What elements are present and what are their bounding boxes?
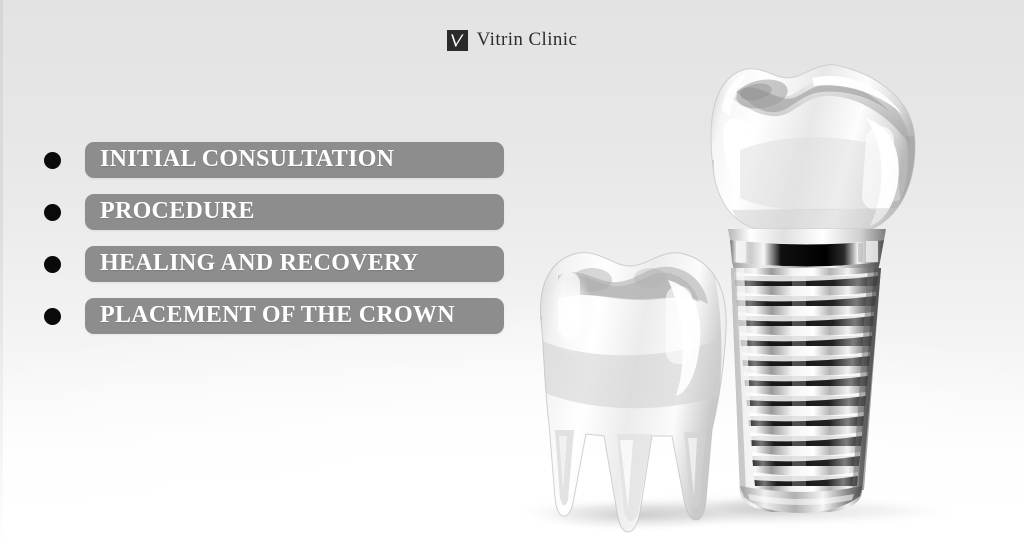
list-item[interactable]: HEALING AND RECOVERY [44, 246, 504, 282]
dental-artwork [500, 0, 1024, 550]
list-item[interactable]: INITIAL CONSULTATION [44, 142, 504, 178]
step-label: PLACEMENT OF THE CROWN [100, 303, 455, 327]
step-pill-initial-consultation[interactable]: INITIAL CONSULTATION [85, 142, 504, 178]
molar-tooth-illustration [534, 252, 734, 532]
left-edge-accent [0, 0, 3, 550]
vitrin-v-mark-icon [447, 30, 468, 51]
implant-abutment-collar [728, 229, 886, 275]
list-item[interactable]: PROCEDURE [44, 194, 504, 230]
bullet-dot-icon [44, 256, 61, 273]
slide-canvas: Vitrin Clinic INITIAL CONSULTATION PROCE… [0, 0, 1024, 550]
step-pill-healing-and-recovery[interactable]: HEALING AND RECOVERY [85, 246, 504, 282]
list-item[interactable]: PLACEMENT OF THE CROWN [44, 298, 504, 334]
step-pill-placement-of-the-crown[interactable]: PLACEMENT OF THE CROWN [85, 298, 504, 334]
bullet-dot-icon [44, 308, 61, 325]
dental-implant-illustration [706, 65, 917, 513]
bullet-dot-icon [44, 152, 61, 169]
implant-crown [706, 65, 917, 232]
step-label: INITIAL CONSULTATION [100, 147, 394, 171]
step-label: PROCEDURE [100, 199, 255, 223]
bullet-dot-icon [44, 204, 61, 221]
step-pill-procedure[interactable]: PROCEDURE [85, 194, 504, 230]
step-label: HEALING AND RECOVERY [100, 251, 419, 275]
implant-threaded-post [731, 268, 881, 513]
steps-list: INITIAL CONSULTATION PROCEDURE HEALING A… [44, 142, 504, 334]
